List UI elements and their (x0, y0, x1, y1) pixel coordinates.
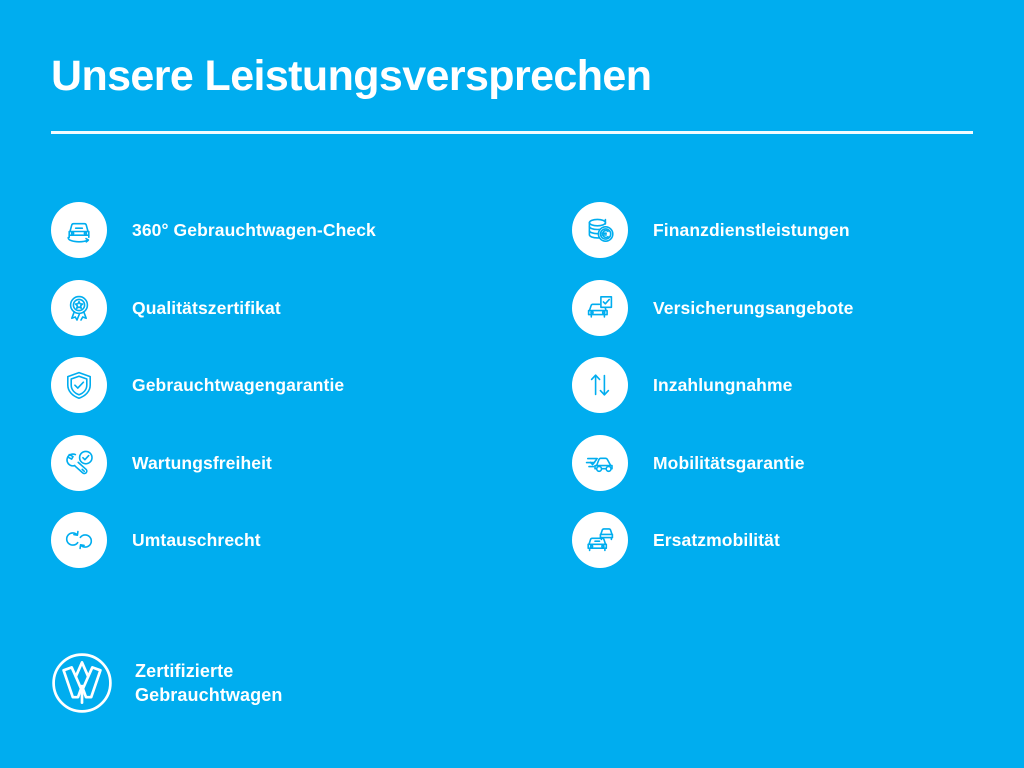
benefit-label: 360° Gebrauchtwagen-Check (132, 220, 376, 240)
benefit-item-qualitaetszertifikat[interactable]: Qualitätszertifikat (51, 280, 521, 336)
benefit-item-gebrauchtwagengarantie[interactable]: Gebrauchtwagengarantie (51, 357, 521, 413)
header-divider (51, 131, 973, 134)
benefit-label: Umtauschrecht (132, 530, 261, 550)
brand-text: Zertifizierte Gebrauchtwagen (135, 659, 282, 707)
car-360-check-icon (51, 202, 107, 258)
award-rosette-icon (51, 280, 107, 336)
benefit-label: Ersatzmobilität (653, 530, 780, 550)
wrench-check-icon (51, 435, 107, 491)
shield-check-icon (51, 357, 107, 413)
header: Unsere Leistungsversprechen (51, 50, 973, 102)
slide-root: Unsere Leistungsversprechen (0, 0, 1024, 768)
page-title: Unsere Leistungsversprechen (51, 50, 973, 102)
benefit-item-versicherungsangebote[interactable]: Versicherungsangebote (572, 280, 1002, 336)
brand-text-line1: Zertifizierte (135, 659, 282, 683)
benefit-label: Inzahlungnahme (653, 375, 792, 395)
benefit-item-mobilitaetsgarantie[interactable]: Mobilitätsgarantie (572, 435, 1002, 491)
coins-euro-icon (572, 202, 628, 258)
benefit-label: Gebrauchtwagengarantie (132, 375, 344, 395)
benefit-item-wartungsfreiheit[interactable]: Wartungsfreiheit (51, 435, 521, 491)
up-down-arrows-icon (572, 357, 628, 413)
car-speed-icon (572, 435, 628, 491)
benefit-item-finanzdienstleistungen[interactable]: Finanzdienstleistungen (572, 202, 1002, 258)
brand-text-line2: Gebrauchtwagen (135, 683, 282, 707)
benefit-label: Finanzdienstleistungen (653, 220, 850, 240)
brand-footer: Zertifizierte Gebrauchtwagen (51, 652, 282, 714)
car-document-check-icon (572, 280, 628, 336)
benefits-left-column: 360° Gebrauchtwagen-Check Qualitätszerti… (51, 202, 521, 590)
exchange-arrows-icon (51, 512, 107, 568)
benefit-label: Qualitätszertifikat (132, 298, 281, 318)
benefit-item-360-check[interactable]: 360° Gebrauchtwagen-Check (51, 202, 521, 258)
benefit-label: Versicherungsangebote (653, 298, 854, 318)
benefits-right-column: Finanzdienstleistungen (572, 202, 1002, 590)
benefit-item-umtauschrecht[interactable]: Umtauschrecht (51, 512, 521, 568)
volkswagen-logo-icon (51, 652, 113, 714)
benefit-item-ersatzmobilitaet[interactable]: Ersatzmobilität (572, 512, 1002, 568)
benefit-label: Mobilitätsgarantie (653, 453, 805, 473)
two-cars-icon (572, 512, 628, 568)
benefit-item-inzahlungnahme[interactable]: Inzahlungnahme (572, 357, 1002, 413)
benefit-label: Wartungsfreiheit (132, 453, 272, 473)
